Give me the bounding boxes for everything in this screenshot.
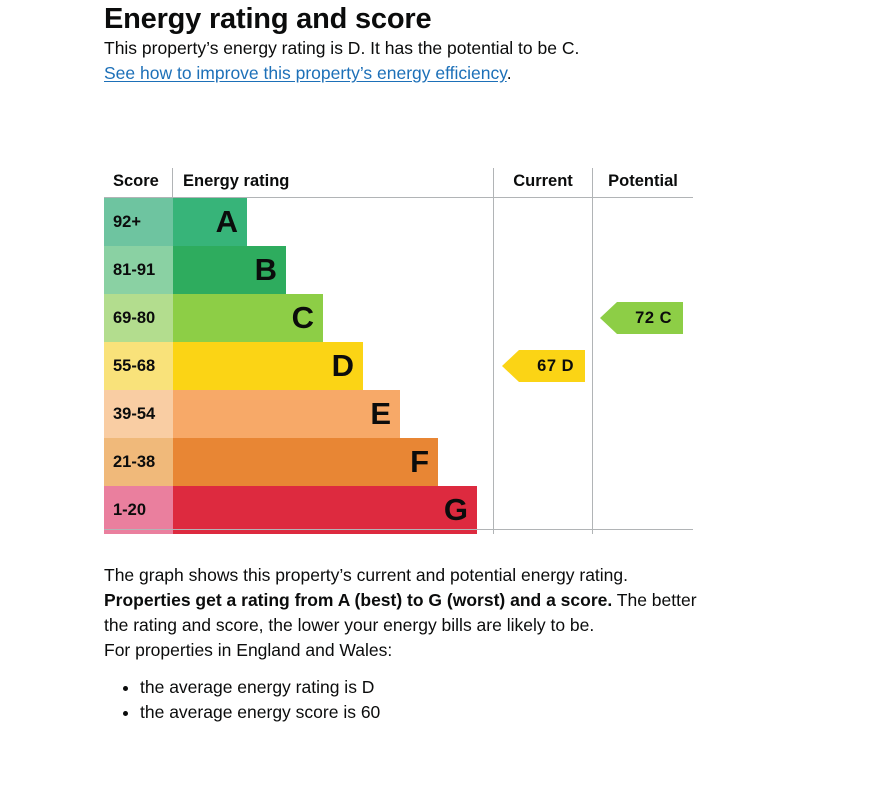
- potential-cell: [593, 438, 693, 486]
- energy-rating-cell: A: [173, 198, 494, 246]
- improve-efficiency-link[interactable]: See how to improve this property’s energ…: [104, 63, 507, 83]
- current-cell: [494, 390, 593, 438]
- potential-rating-marker: 72 C: [600, 302, 683, 334]
- rating-band-bar-g: G: [173, 486, 477, 534]
- score-range-cell: 92+: [104, 198, 173, 246]
- header-potential: Potential: [593, 168, 693, 197]
- score-range-cell: 21-38: [104, 438, 173, 486]
- graph-note: The graph shows this property’s current …: [104, 563, 704, 588]
- table-row: 81-91B: [104, 246, 693, 294]
- rating-band-bar-f: F: [173, 438, 438, 486]
- intro-paragraph: This property’s energy rating is D. It h…: [104, 36, 864, 61]
- score-range-cell: 39-54: [104, 390, 173, 438]
- current-rating-marker: 67 D: [502, 350, 585, 382]
- band-letter: B: [255, 254, 286, 285]
- rating-explanation: Properties get a rating from A (best) to…: [104, 588, 704, 638]
- current-cell: [494, 486, 593, 534]
- score-range-cell: 69-80: [104, 294, 173, 342]
- current-cell: [494, 438, 593, 486]
- header-score: Score: [104, 168, 173, 197]
- region-average-list: the average energy rating is Dthe averag…: [104, 675, 704, 725]
- potential-rating-label: 72 C: [635, 309, 683, 328]
- rating-band-bar-e: E: [173, 390, 400, 438]
- header-energy-rating: Energy rating: [173, 168, 494, 197]
- content-column: Energy rating and score This property’s …: [104, 0, 864, 86]
- page-title: Energy rating and score: [104, 0, 864, 36]
- energy-rating-cell: D: [173, 342, 494, 390]
- epc-page: Energy rating and score This property’s …: [0, 0, 875, 800]
- explanatory-copy: The graph shows this property’s current …: [104, 563, 704, 725]
- rating-band-bar-b: B: [173, 246, 286, 294]
- potential-cell: [593, 246, 693, 294]
- current-rating-label: 67 D: [537, 357, 585, 376]
- energy-rating-cell: C: [173, 294, 494, 342]
- energy-rating-cell: F: [173, 438, 494, 486]
- current-cell: 67 D: [494, 342, 593, 390]
- header-current: Current: [494, 168, 593, 197]
- current-cell: [494, 294, 593, 342]
- list-item: the average energy score is 60: [140, 700, 704, 725]
- band-letter: E: [370, 398, 400, 429]
- potential-cell: [593, 198, 693, 246]
- potential-cell: [593, 390, 693, 438]
- rating-band-bar-d: D: [173, 342, 363, 390]
- table-row: 21-38F: [104, 438, 693, 486]
- table-row: 39-54E: [104, 390, 693, 438]
- band-letter: F: [410, 446, 438, 477]
- list-item: the average energy rating is D: [140, 675, 704, 700]
- table-row: 92+A: [104, 198, 693, 246]
- table-body: 92+A81-91B69-80C72 C55-68D67 D39-54E21-3…: [104, 198, 693, 534]
- score-range-cell: 1-20: [104, 486, 173, 534]
- potential-cell: [593, 342, 693, 390]
- band-letter: D: [332, 350, 363, 381]
- energy-rating-cell: G: [173, 486, 494, 534]
- potential-cell: 72 C: [593, 294, 693, 342]
- band-letter: G: [444, 494, 477, 525]
- link-trailing-period: .: [507, 63, 512, 83]
- current-cell: [494, 198, 593, 246]
- improve-link-paragraph: See how to improve this property’s energ…: [104, 61, 864, 86]
- score-range-cell: 55-68: [104, 342, 173, 390]
- table-row: 55-68D67 D: [104, 342, 693, 390]
- table-header-row: Score Energy rating Current Potential: [104, 168, 693, 198]
- energy-rating-cell: B: [173, 246, 494, 294]
- band-letter: A: [216, 206, 247, 237]
- rating-explanation-bold: Properties get a rating from A (best) to…: [104, 590, 612, 610]
- table-row: 69-80C72 C: [104, 294, 693, 342]
- region-intro: For properties in England and Wales:: [104, 638, 704, 663]
- score-range-cell: 81-91: [104, 246, 173, 294]
- potential-cell: [593, 486, 693, 534]
- energy-rating-table: Score Energy rating Current Potential 92…: [104, 168, 693, 534]
- table-row: 1-20G: [104, 486, 693, 534]
- current-cell: [494, 246, 593, 294]
- band-letter: C: [292, 302, 323, 333]
- rating-band-bar-a: A: [173, 198, 247, 246]
- energy-rating-cell: E: [173, 390, 494, 438]
- rating-band-bar-c: C: [173, 294, 323, 342]
